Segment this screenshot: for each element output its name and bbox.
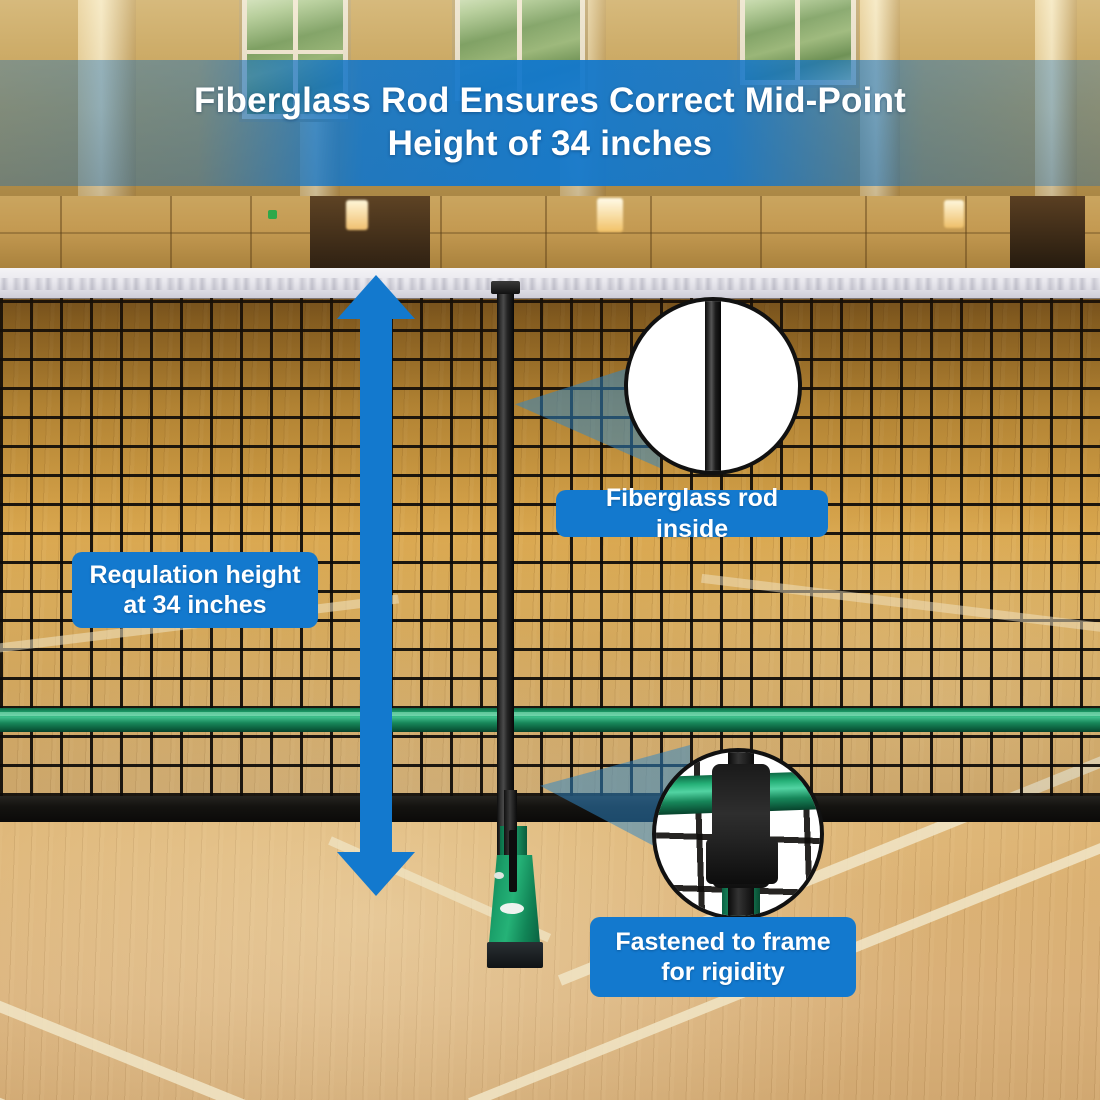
banner-line-2: Height of 34 inches xyxy=(388,123,713,166)
arrow-head-down-icon xyxy=(337,852,415,896)
callout-fastened-to-frame: Fastened to frame for rigidity xyxy=(590,917,856,997)
wall-lamp xyxy=(346,200,368,230)
fiberglass-rod-detail xyxy=(705,297,721,475)
exit-indicator xyxy=(268,210,277,219)
wall-recess xyxy=(1010,196,1085,270)
fastener-clip-band-detail xyxy=(706,838,778,884)
pole-top-cap xyxy=(491,281,520,294)
wall-padding-seams xyxy=(0,196,1100,270)
magnifier-frame-fastener xyxy=(652,748,824,920)
callout-fiberglass-rod-inside: Fiberglass rod inside xyxy=(556,490,828,537)
base-slot xyxy=(509,830,517,892)
base-brand-label xyxy=(500,903,524,914)
title-banner: Fiberglass Rod Ensures Correct Mid-Point… xyxy=(0,60,1100,186)
net-tape-stitching xyxy=(0,278,1100,290)
base-end-cap xyxy=(487,942,543,968)
center-support-pole xyxy=(497,286,514,872)
callout-regulation-height: Requlation height at 34 inches xyxy=(72,552,318,628)
wall-lamp xyxy=(944,200,964,228)
infographic-canvas: Fiberglass Rod Ensures Correct Mid-Point… xyxy=(0,0,1100,1100)
net-bottom-frame-bar xyxy=(0,796,1100,822)
banner-line-1: Fiberglass Rod Ensures Correct Mid-Point xyxy=(194,80,906,123)
wall-lamp xyxy=(597,198,623,232)
base-screw xyxy=(494,872,504,879)
wall-recess xyxy=(310,196,430,270)
magnifier-fiberglass-rod xyxy=(624,297,802,475)
pickleball-net xyxy=(0,268,1100,824)
frame-tube-highlight xyxy=(0,712,1100,716)
measurement-arrow-shaft xyxy=(360,300,392,876)
